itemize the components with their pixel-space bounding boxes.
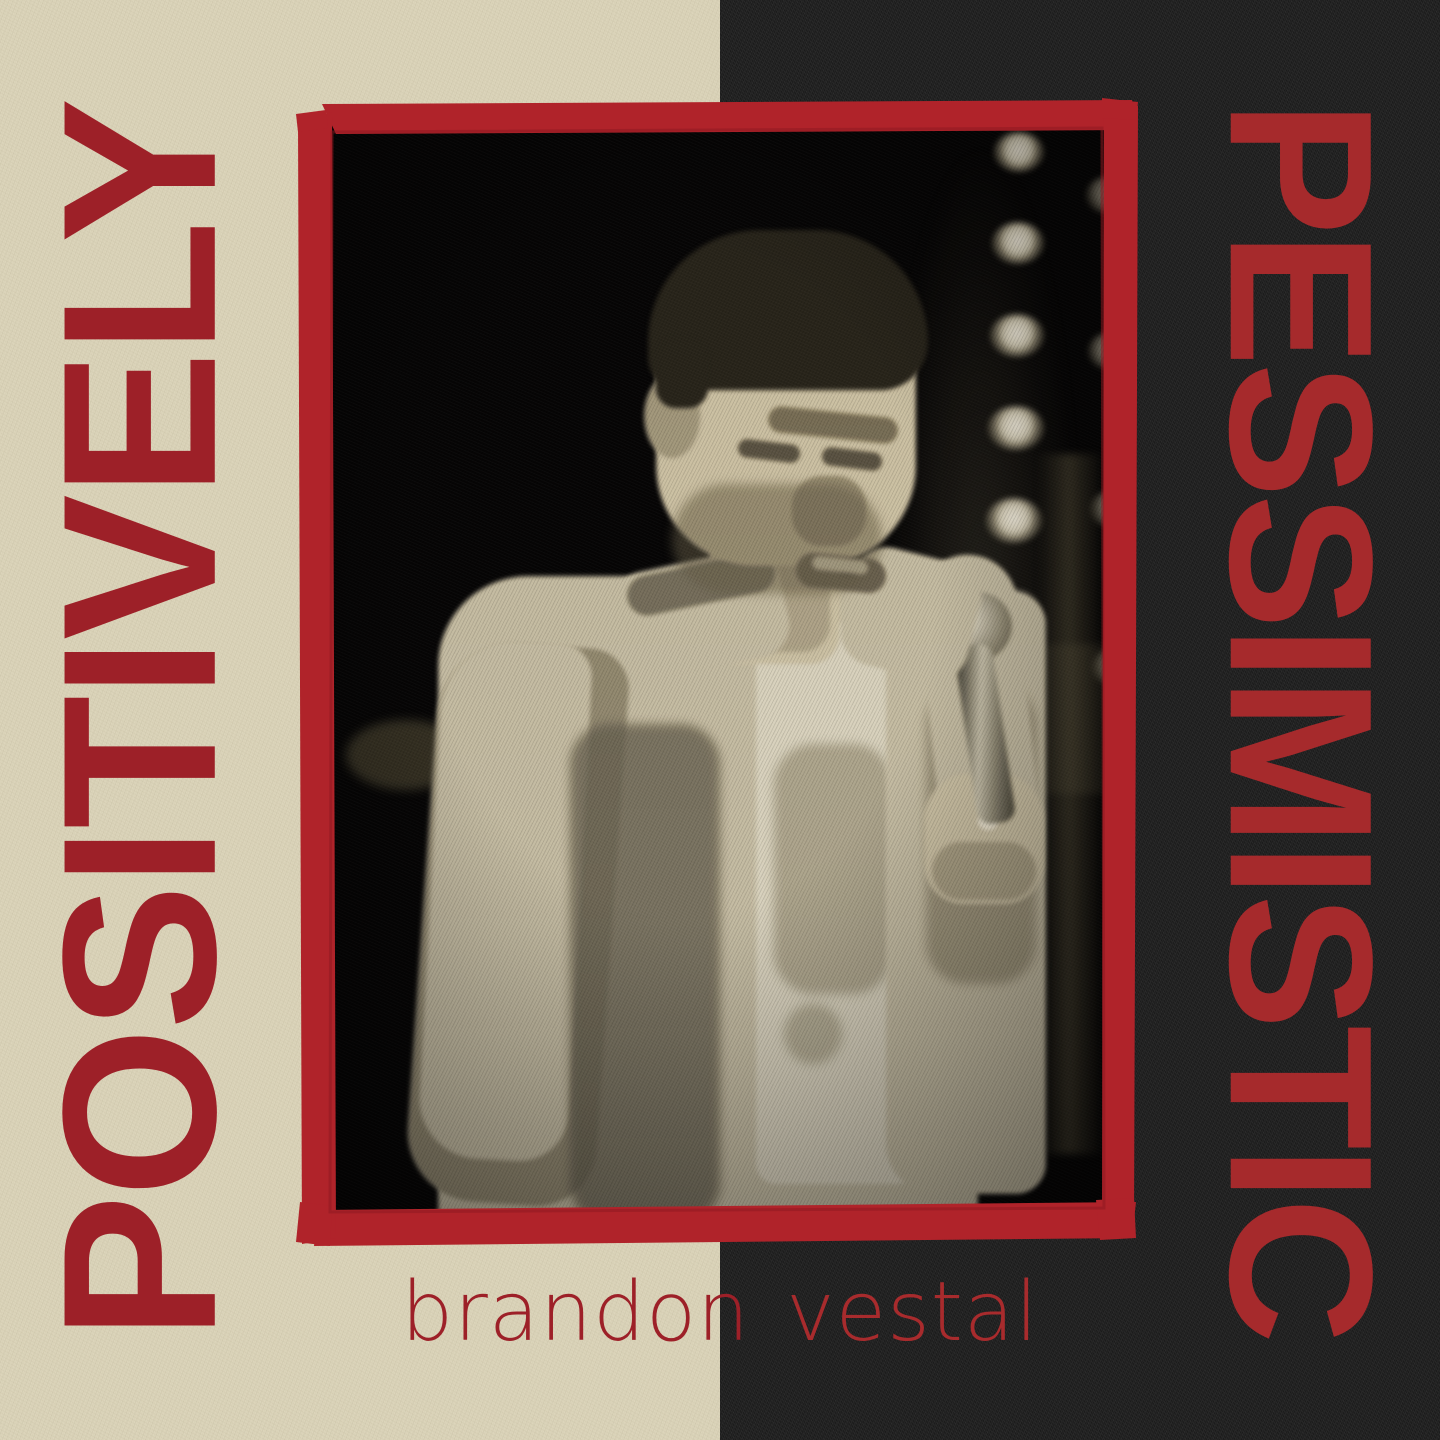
frame-corner-nub-bl: [296, 1202, 332, 1246]
artist-first-name: brandon: [401, 1265, 750, 1360]
artist-last-name: vestal: [786, 1265, 1039, 1360]
frame-corner-nub-tr: [1102, 98, 1138, 120]
frame-stroke-right: [1102, 102, 1138, 1232]
title-word-pessimistic: PESSIMISTIC: [1198, 100, 1402, 1340]
album-cover: POSITIVELY PESSIMISTIC: [0, 0, 1440, 1440]
title-word-positively: POSITIVELY: [31, 100, 249, 1340]
artist-name: brandonvestal: [0, 1272, 1440, 1354]
frame-corner-nub-br: [1096, 1198, 1136, 1240]
title-right-container: PESSIMISTIC: [1160, 0, 1440, 1440]
frame-inner-edge: [330, 128, 1104, 1212]
hand-drawn-red-frame: [296, 98, 1138, 1250]
title-left-container: POSITIVELY: [0, 0, 280, 1440]
